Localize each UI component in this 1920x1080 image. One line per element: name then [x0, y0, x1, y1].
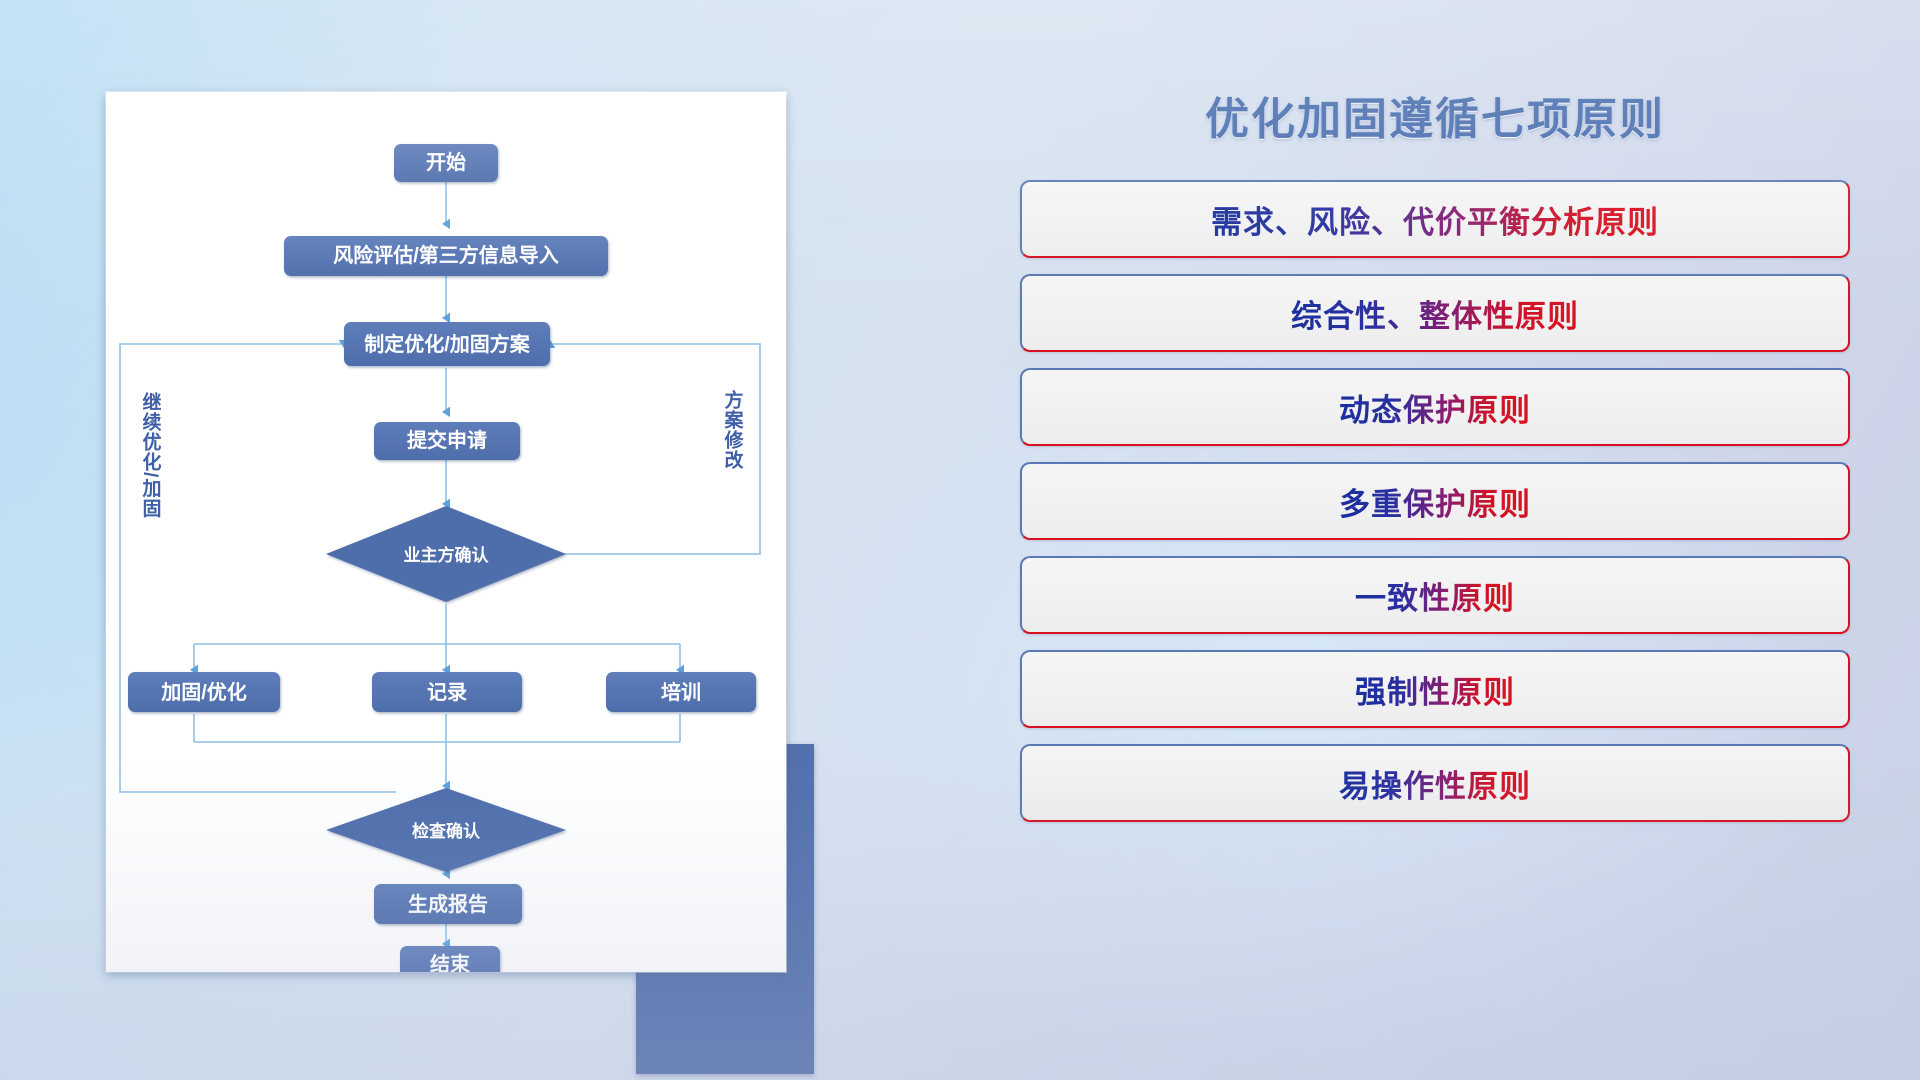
principle-label-3: 动态保护原则	[1339, 385, 1531, 430]
principle-card-1[interactable]: 需求、风险、代价平衡分析原则	[1020, 180, 1850, 258]
flow-node-training-label: 培训	[661, 680, 701, 704]
principle-card-7[interactable]: 易操作性原则	[1020, 744, 1850, 822]
flow-node-report-label: 生成报告	[408, 892, 488, 916]
principles-panel-title: 优化加固遵循七项原则	[1020, 96, 1850, 144]
flow-node-check-label: 检查确认	[412, 821, 481, 841]
principle-card-5[interactable]: 一致性原则	[1020, 556, 1850, 634]
principles-panel: 优化加固遵循七项原则 需求、风险、代价平衡分析原则 综合性、整体性原则 动态保护…	[1020, 96, 1850, 1006]
flow-node-plan-label: 制定优化/加固方案	[364, 332, 531, 356]
flow-node-record-label: 记录	[427, 681, 467, 704]
flow-node-reinforce-label: 加固/优化	[160, 680, 247, 704]
flow-node-start-label: 开始	[426, 150, 466, 174]
principle-card-6[interactable]: 强制性原则	[1020, 650, 1850, 728]
flowchart-card: 开始 风险评估/第三方信息导入 制定优化/加固方案 提交申请	[106, 92, 786, 972]
principle-card-2[interactable]: 综合性、整体性原则	[1020, 274, 1850, 352]
principle-label-2: 综合性、整体性原则	[1291, 291, 1579, 336]
principle-label-7: 易操作性原则	[1339, 761, 1531, 806]
flow-node-owner-confirm-label: 业主方确认	[404, 545, 490, 565]
flowchart-paper: 开始 风险评估/第三方信息导入 制定优化/加固方案 提交申请	[106, 92, 786, 972]
principle-label-6: 强制性原则	[1355, 667, 1515, 712]
flow-node-end-label: 结束	[430, 952, 471, 972]
principle-card-3[interactable]: 动态保护原则	[1020, 368, 1850, 446]
principle-label-4: 多重保护原则	[1339, 479, 1531, 524]
flow-edge-label-left-loop: 继续优化/加固	[140, 391, 163, 519]
flow-node-submit-label: 提交申请	[407, 428, 487, 452]
principle-label-5: 一致性原则	[1355, 573, 1515, 618]
principle-card-4[interactable]: 多重保护原则	[1020, 462, 1850, 540]
principle-label-1: 需求、风险、代价平衡分析原则	[1211, 197, 1659, 242]
flow-node-risk-label: 风险评估/第三方信息导入	[333, 243, 559, 267]
slide-background: 开始 风险评估/第三方信息导入 制定优化/加固方案 提交申请	[0, 0, 1920, 1080]
flowchart-svg: 开始 风险评估/第三方信息导入 制定优化/加固方案 提交申请	[106, 92, 786, 972]
flow-edge-label-right-loop: 方案修改	[722, 389, 745, 470]
